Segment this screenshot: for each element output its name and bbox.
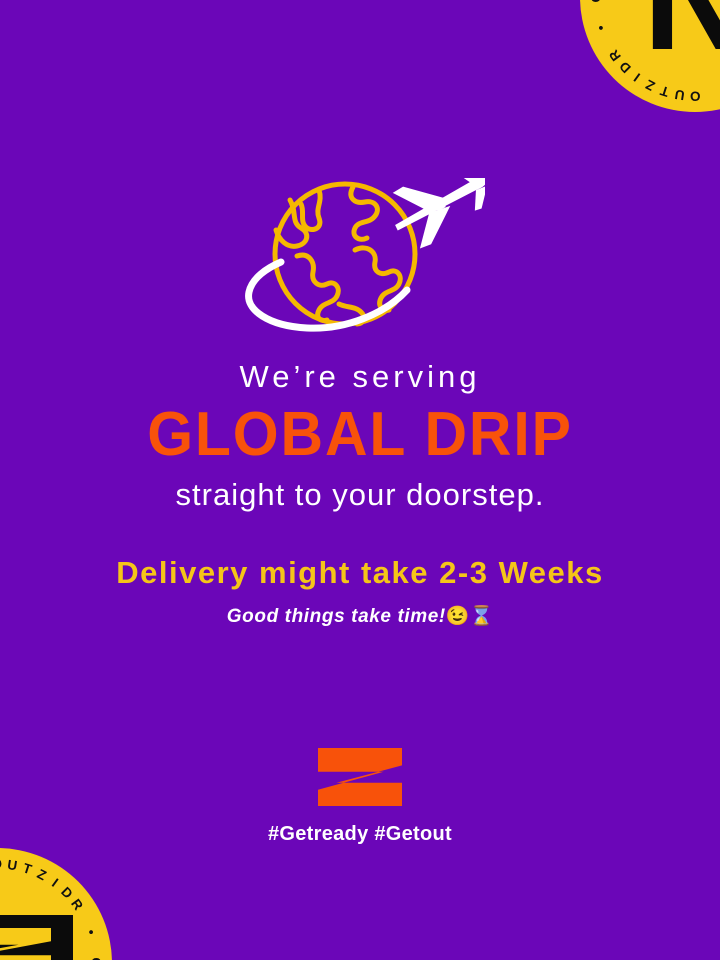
brand-badge-bottom-left: OUTZIDR • OUTZIDR • OUTZIDR • OUTZIDR • … [0,848,112,960]
badge-ring-char: T [21,860,34,877]
hourglass-emoji-icon: ⌛ [470,606,494,627]
line-good-things: Good things take time!😉⌛ [0,604,720,628]
airplane-icon [382,178,485,255]
line-doorstep: straight to your doorstep. [0,477,720,513]
wink-emoji-icon: 😉 [446,606,470,627]
badge-ring-char: I [49,876,61,891]
poster-canvas: OUTZIDR • OUTZIDR • OUTZIDR • OUTZIDR • … [0,0,720,960]
badge-ring-char: R [68,896,86,913]
badge-ring-char: • [83,928,99,938]
badge-ring-char: Z [35,866,50,883]
badge-ring-char: T [658,83,671,100]
footer-block: #Getready #Getout [0,748,720,846]
headline-global-drip: GLOBAL DRIP [18,402,702,467]
badge-ring-char: O [0,857,3,872]
badge-ring-char: O [689,89,700,104]
good-things-text: Good things take time! [227,606,446,627]
badge-letter: N [643,0,720,57]
badge-core-top-right: N [620,0,720,72]
badge-ring-char: U [6,857,18,873]
brand-badge-top-right: OUTZIDR • OUTZIDR • OUTZIDR • OUTZIDR • … [580,0,720,112]
hashtags: #Getready #Getout [0,823,720,846]
badge-core-bottom-left: OUTZIDR [0,915,73,960]
badge-ring-char: D [58,884,76,902]
brand-z-logo-icon [318,748,402,806]
badge-ring-char: • [593,23,609,33]
globe-airplane-illustration [235,178,485,343]
badge-ring-char: O [589,0,604,3]
copy-block: We’re serving GLOBAL DRIP straight to yo… [0,360,720,628]
line-serving: We’re serving [0,360,720,394]
badge-z-logo-icon [0,928,51,960]
line-delivery-estimate: Delivery might take 2-3 Weeks [0,555,720,591]
badge-ring-char: U [673,87,685,103]
